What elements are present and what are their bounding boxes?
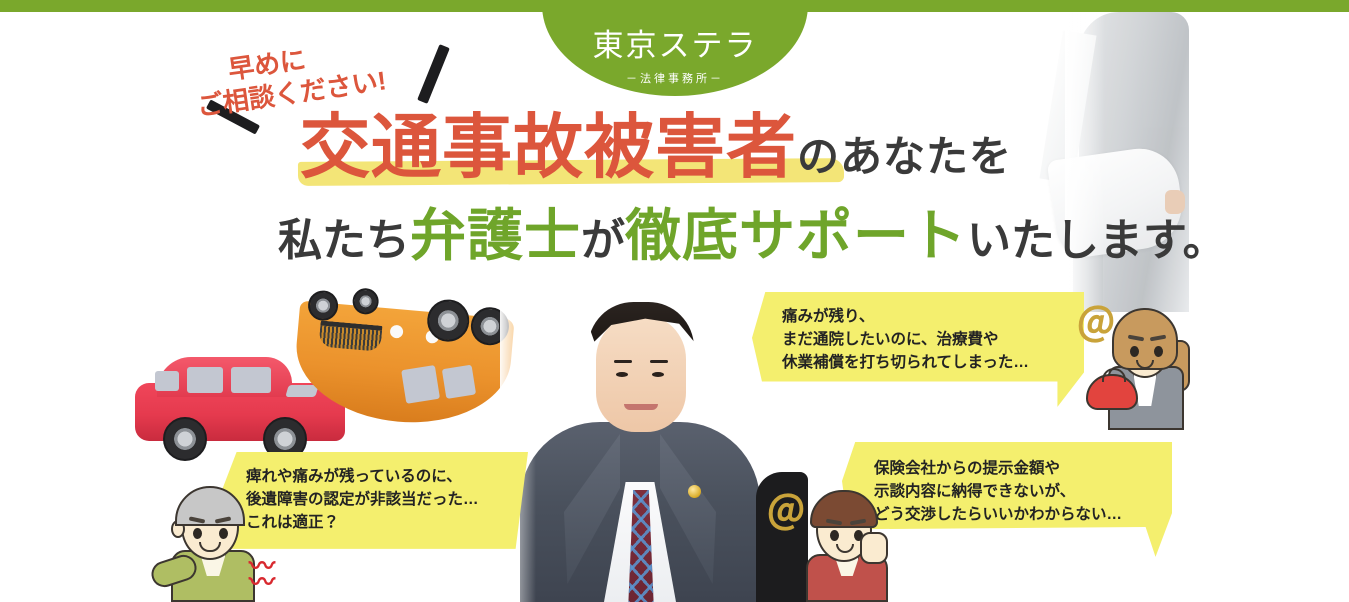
headline-dark-text: のあなたを	[797, 133, 1012, 180]
catch-copy: 早めに ご相談ください!	[226, 34, 388, 118]
speech-bubble-treatment-cutoff: 痛みが残り、 まだ通院したいのに、治療費や 休業補償を打ち切られてしまった…	[752, 292, 1084, 407]
bubble3-line3: どう交渉したらいいかわからない…	[874, 504, 1154, 527]
headline2-green-1: 弁護士	[410, 204, 581, 267]
logo-secondary-text: －法律事務所－	[626, 70, 724, 86]
bubble1-line2: まだ通院したいのに、治療費や	[782, 329, 1062, 352]
headline-line-2: 私たち弁護士が徹底サポートいたします。	[278, 208, 1227, 264]
site-logo[interactable]: 東京ステラ －法律事務所－	[542, 0, 808, 96]
character-young-man	[786, 490, 906, 602]
hero-banner: 〰〰 ＠ ＠ 痛みが残り、 まだ通院したいのに、治療費や 休業補償を	[0, 0, 1349, 602]
bubble2-line1: 痺れや痛みが残っているのに、	[246, 466, 510, 489]
injured-person-photo	[1079, 12, 1229, 312]
pain-zigzag-icon: 〰〰	[249, 558, 275, 590]
headline2-dark-3: いたします。	[967, 216, 1227, 265]
character-elderly-man: 〰〰	[145, 484, 275, 602]
headline-line-1: 交通事故被害者のあなたを	[300, 112, 1012, 182]
headline-red-text: 交通事故被害者	[300, 108, 797, 186]
lawyer-badge-icon	[688, 485, 701, 498]
decorative-slash-right	[417, 44, 450, 104]
bubble2-line2: 後遺障害の認定が非該当だった…	[246, 489, 510, 512]
logo-primary-text: 東京ステラ	[593, 30, 758, 61]
character-woman-with-purse	[1088, 300, 1198, 430]
bubble3-line1: 保険会社からの提示金額や	[874, 458, 1154, 481]
bubble1-line1: 痛みが残り、	[782, 306, 1062, 329]
headline2-dark-1: 私たち	[278, 216, 410, 265]
headline2-dark-2: が	[581, 216, 625, 265]
lawyer-portrait	[520, 288, 760, 602]
bubble3-line2: 示談内容に納得できないが、	[874, 481, 1154, 504]
bubble2-line3: これは適正？	[246, 512, 510, 535]
bubble1-line3: 休業補償を打ち切られてしまった…	[782, 352, 1062, 375]
orange-toy-car-overturned	[290, 291, 521, 445]
headline2-green-2: 徹底サポート	[625, 204, 967, 267]
